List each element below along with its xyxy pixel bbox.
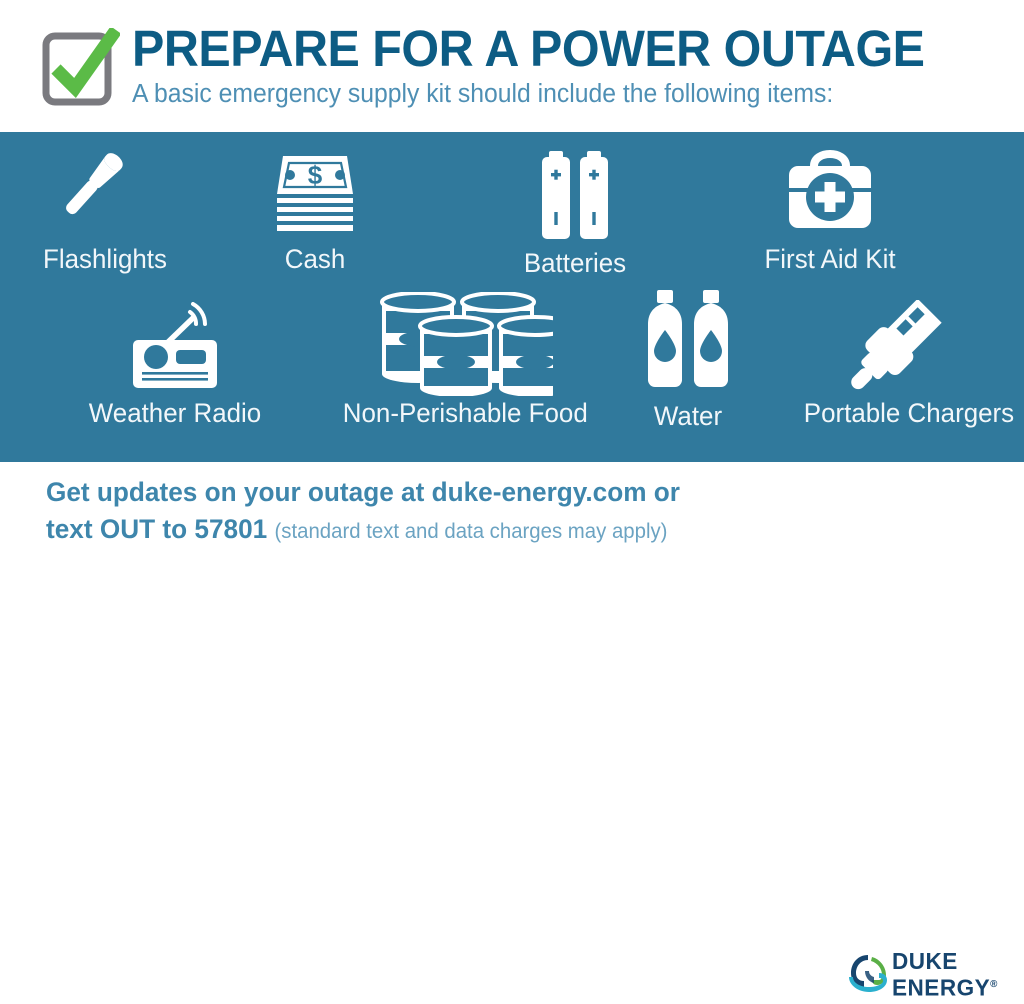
item-cash: $ Cash — [225, 150, 405, 274]
checkbox-check-icon — [42, 28, 120, 108]
svg-text:$: $ — [308, 160, 323, 190]
item-label: Portable Chargers — [804, 398, 986, 428]
flashlight-icon — [50, 146, 160, 242]
duke-energy-logo: DUKE ENERGY® — [846, 948, 1006, 1004]
registered-trademark-icon: ® — [990, 979, 998, 990]
item-label: First Aid Kit — [744, 244, 917, 274]
footer-message: Get updates on your outage at duke-energ… — [46, 474, 726, 550]
supply-kit-items-panel: Flashlights $ Cash — [0, 132, 1024, 462]
duke-energy-logo-text: DUKE ENERGY® — [892, 949, 998, 1000]
footer-line-2: text OUT to 57801 (standard text and dat… — [46, 511, 706, 550]
item-non-perishable-food: Non-Perishable Food — [338, 292, 578, 428]
usb-charger-icon — [835, 300, 955, 396]
item-first-aid-kit: First Aid Kit — [740, 144, 920, 274]
item-flashlights: Flashlights — [5, 146, 205, 274]
item-label: Weather Radio — [89, 398, 262, 428]
item-water: Water — [608, 288, 768, 431]
page-title: PREPARE FOR A POWER OUTAGE — [132, 22, 960, 76]
page-subtitle: A basic emergency supply kit should incl… — [132, 79, 978, 109]
footer: Get updates on your outage at duke-energ… — [0, 462, 1024, 568]
item-label: Flashlights — [9, 244, 201, 274]
footer-line-1: Get updates on your outage at duke-energ… — [46, 474, 706, 511]
item-batteries: Batteries — [485, 150, 665, 278]
infographic-page: PREPARE FOR A POWER OUTAGE A basic emerg… — [0, 0, 1024, 568]
item-weather-radio: Weather Radio — [85, 302, 265, 428]
item-label: Cash — [229, 244, 402, 274]
weather-radio-icon — [120, 302, 230, 394]
item-portable-chargers: Portable Chargers — [800, 300, 990, 428]
item-label: Non-Perishable Food — [343, 398, 573, 428]
footer-disclaimer: (standard text and data charges may appl… — [275, 520, 668, 543]
cash-stack-icon: $ — [265, 150, 365, 242]
batteries-icon — [530, 150, 620, 248]
duke-energy-logo-mark — [846, 951, 890, 1001]
item-label: Batteries — [489, 248, 662, 278]
item-label: Water — [611, 401, 765, 431]
title-block: PREPARE FOR A POWER OUTAGE A basic emerg… — [132, 22, 1004, 109]
logo-line-energy: ENERGY® — [892, 973, 998, 1000]
footer-sms-instruction: text OUT to 57801 — [46, 514, 267, 544]
header: PREPARE FOR A POWER OUTAGE A basic emerg… — [0, 0, 1024, 132]
first-aid-kit-icon — [775, 144, 885, 244]
canned-food-icon — [363, 292, 553, 396]
logo-line-duke: DUKE — [892, 949, 998, 973]
water-bottles-icon — [643, 288, 733, 398]
